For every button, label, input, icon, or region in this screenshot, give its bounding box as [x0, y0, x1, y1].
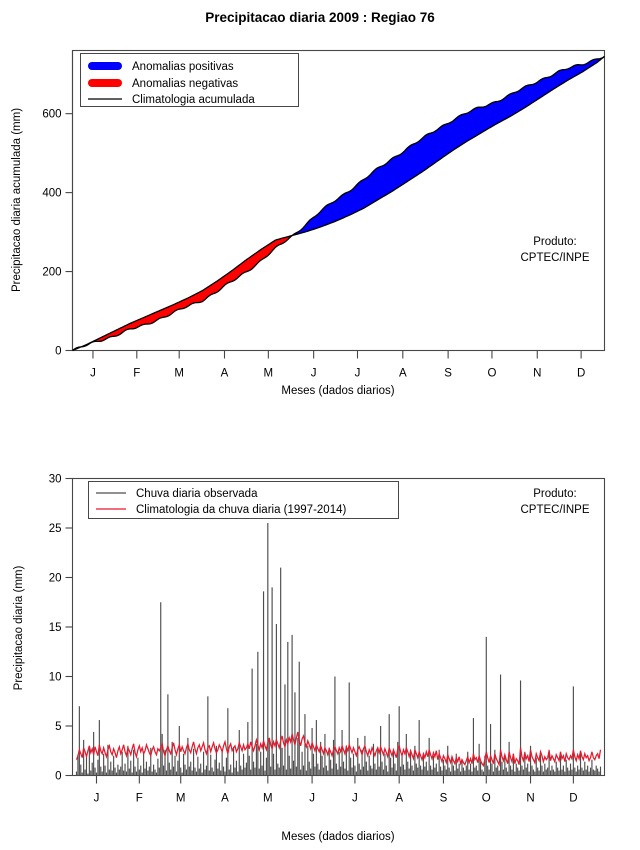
legend-label-climatology-daily: Climatologia da chuva diaria (1997-2014) [136, 504, 346, 516]
legend-swatch-positive-anomaly [88, 62, 122, 70]
y-tick-label-bottom: 15 [49, 622, 62, 634]
x-tick-label-top: J [311, 368, 317, 380]
legend-label-negative-anomaly: Anomalias negativas [132, 78, 238, 90]
y-tick-label-bottom: 30 [49, 474, 62, 486]
legend-label-observed: Chuva diaria observada [136, 488, 258, 500]
x-axis-title-top: Meses (dados diarios) [281, 385, 394, 397]
y-tick-label-top: 400 [42, 188, 61, 200]
x-tick-label-bottom: A [395, 793, 403, 805]
x-tick-label-top: N [533, 368, 541, 380]
figure-background [0, 0, 640, 850]
y-axis-title-top: Precipitacao diaria acumulada (mm) [11, 108, 23, 292]
x-tick-label-bottom: N [526, 793, 534, 805]
x-tick-label-top: M [174, 368, 184, 380]
x-tick-label-top: A [221, 368, 229, 380]
legend-bottom: Chuva diaria observada Climatologia da c… [89, 482, 399, 519]
x-tick-label-bottom: O [482, 793, 491, 805]
x-tick-label-top: D [577, 368, 585, 380]
x-tick-label-bottom: J [352, 793, 358, 805]
y-tick-label-bottom: 0 [55, 771, 61, 783]
y-tick-label-bottom: 25 [49, 523, 62, 535]
produto-line2-bottom: CPTEC/INPE [520, 504, 589, 516]
x-tick-label-top: S [444, 368, 452, 380]
x-tick-label-top: J [90, 368, 96, 380]
legend-label-climatology: Climatologia acumulada [132, 94, 255, 106]
y-tick-label-bottom: 10 [49, 672, 62, 684]
y-tick-label-top: 200 [42, 267, 61, 279]
legend-top: Anomalias positivas Anomalias negativas … [81, 54, 299, 107]
page-title: Precipitacao diaria 2009 : Regiao 76 [205, 10, 435, 25]
produto-line1-top: Produto: [533, 236, 576, 248]
x-tick-label-bottom: J [94, 793, 100, 805]
x-tick-label-bottom: F [136, 793, 143, 805]
produto-line2-top: CPTEC/INPE [520, 252, 589, 264]
x-axis-title-bottom: Meses (dados diarios) [281, 831, 394, 843]
figure-canvas: Precipitacao diaria 2009 : Regiao 76 020… [0, 0, 640, 850]
x-tick-label-top: A [399, 368, 407, 380]
precipitation-figure: Precipitacao diaria 2009 : Regiao 76 020… [0, 0, 640, 850]
y-tick-label-bottom: 5 [55, 721, 61, 733]
produto-line1-bottom: Produto: [533, 488, 576, 500]
x-tick-label-top: M [264, 368, 274, 380]
y-tick-label-top: 600 [42, 109, 61, 121]
x-tick-label-bottom: A [221, 793, 229, 805]
x-tick-label-bottom: M [176, 793, 186, 805]
legend-label-positive-anomaly: Anomalias positivas [132, 61, 234, 73]
x-tick-label-bottom: M [263, 793, 273, 805]
x-tick-label-bottom: D [569, 793, 577, 805]
x-tick-label-bottom: J [309, 793, 315, 805]
legend-swatch-negative-anomaly [88, 79, 122, 87]
x-tick-label-top: O [487, 368, 496, 380]
x-tick-label-top: F [133, 368, 140, 380]
y-tick-label-bottom: 20 [49, 573, 62, 585]
y-tick-label-top: 0 [55, 346, 61, 358]
y-axis-title-bottom: Precipitacao diaria (mm) [13, 566, 25, 691]
x-tick-label-bottom: S [440, 793, 448, 805]
x-tick-label-top: J [355, 368, 361, 380]
